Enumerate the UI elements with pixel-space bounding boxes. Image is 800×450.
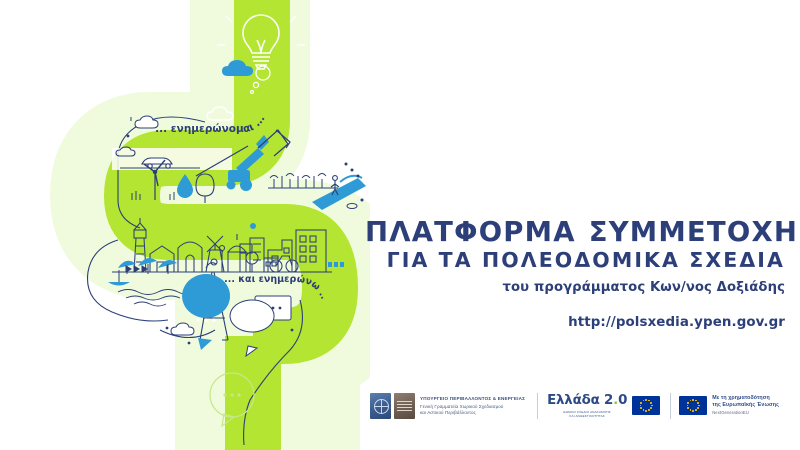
greece20-zero: 0 — [618, 393, 627, 408]
greece20-subtext: ΕΘΝΙΚΟ ΣΧΕΔΙΟ ΑΝΑΚΑΜΨΗΣ ΚΑΙ ΑΝΘΕΚΤΙΚΟΤΗΤ… — [563, 410, 610, 418]
participation-journey-illustration: ... ενημερώνομαι ... — [0, 0, 370, 450]
greece20-subtext-line2: ΚΑΙ ΑΝΘΕΚΤΙΚΟΤΗΤΑΣ — [569, 414, 605, 418]
page-title-word-2: ΣΥΜΜΕΤΟΧΗΣ — [589, 216, 800, 248]
ministry-text: ΥΠΟΥΡΓΕΙΟ ΠΕΡΙΒΑΛΛΟΝΤΟΣ & ΕΝΕΡΓΕΙΑΣ Γενι… — [420, 396, 525, 416]
page-subtitle-line: ΓΙΑ ΤΑ ΠΟΛΕΟΔΟΜΙΚΑ ΣΧΕΔΙΑ — [365, 249, 785, 273]
page-title-word-1: ΠΛΑΤΦΟΡΜΑ — [365, 216, 576, 248]
greece20-title: Ελλάδα 2.0 — [547, 393, 627, 408]
ministry-logo: ΥΠΟΥΡΓΕΙΟ ΠΕΡΙΒΑΛΛΟΝΤΟΣ & ΕΝΕΡΓΕΙΑΣ Γενι… — [370, 393, 525, 419]
eu-funding-line1: Με τη χρηματοδότηση — [712, 395, 779, 402]
eu-funding-line3: NextGenerationEU — [712, 410, 779, 415]
platform-url[interactable]: http://polsxedia.ypen.gov.gr — [365, 315, 785, 330]
greece20-word: Ελλάδα — [547, 393, 600, 408]
greece20-two: 2 — [604, 393, 613, 408]
eu-funding-text: Με τη χρηματοδότηση της Ευρωπαϊκής Ένωση… — [712, 395, 779, 416]
ministry-emblems — [370, 393, 415, 419]
headline-block: ΠΛΑΤΦΟΡΜΑΣΥΜΜΕΤΟΧΗΣ ΓΙΑ ΤΑ ΠΟΛΕΟΔΟΜΙΚΑ Σ… — [365, 218, 785, 295]
logo-divider-1 — [537, 393, 538, 419]
eu-funding-logo: Με τη χρηματοδότηση της Ευρωπαϊκής Ένωση… — [679, 395, 779, 416]
page-title: ΠΛΑΤΦΟΡΜΑΣΥΜΜΕΤΟΧΗΣ — [365, 218, 785, 247]
greek-republic-seal-icon — [370, 393, 391, 419]
eu-funding-line2: της Ευρωπαϊκής Ένωσης — [712, 402, 779, 409]
countryside-scene — [112, 147, 232, 170]
footer-logo-bar: ΥΠΟΥΡΓΕΙΟ ΠΕΡΙΒΑΛΛΟΝΤΟΣ & ΕΝΕΡΓΕΙΑΣ Γενι… — [370, 383, 785, 428]
secretariat-name-line2: και Αστικού Περιβάλλοντος — [420, 410, 525, 416]
eu-flag-icon-2 — [679, 396, 707, 415]
secretariat-emblem-icon — [394, 393, 415, 419]
eu-flag-icon-1 — [632, 396, 660, 415]
illustration-panel: ... ενημερώνομαι ... — [0, 0, 370, 450]
programme-name: του προγράμματος Κων/νος Δοξιάδης — [365, 280, 785, 295]
greece20-wordmark: Ελλάδα 2.0 ΕΘΝΙΚΟ ΣΧΕΔΙΟ ΑΝΑΚΑΜΨΗΣ ΚΑΙ Α… — [547, 393, 627, 418]
ministry-name: ΥΠΟΥΡΓΕΙΟ ΠΕΡΙΒΑΛΛΟΝΤΟΣ & ΕΝΕΡΓΕΙΑΣ — [420, 396, 525, 402]
greece20-logo: Ελλάδα 2.0 ΕΘΝΙΚΟ ΣΧΕΔΙΟ ΑΝΑΚΑΜΨΗΣ ΚΑΙ Α… — [547, 393, 660, 418]
logo-divider-2 — [670, 393, 671, 419]
poster-canvas: ... ενημερώνομαι ... — [0, 0, 800, 450]
